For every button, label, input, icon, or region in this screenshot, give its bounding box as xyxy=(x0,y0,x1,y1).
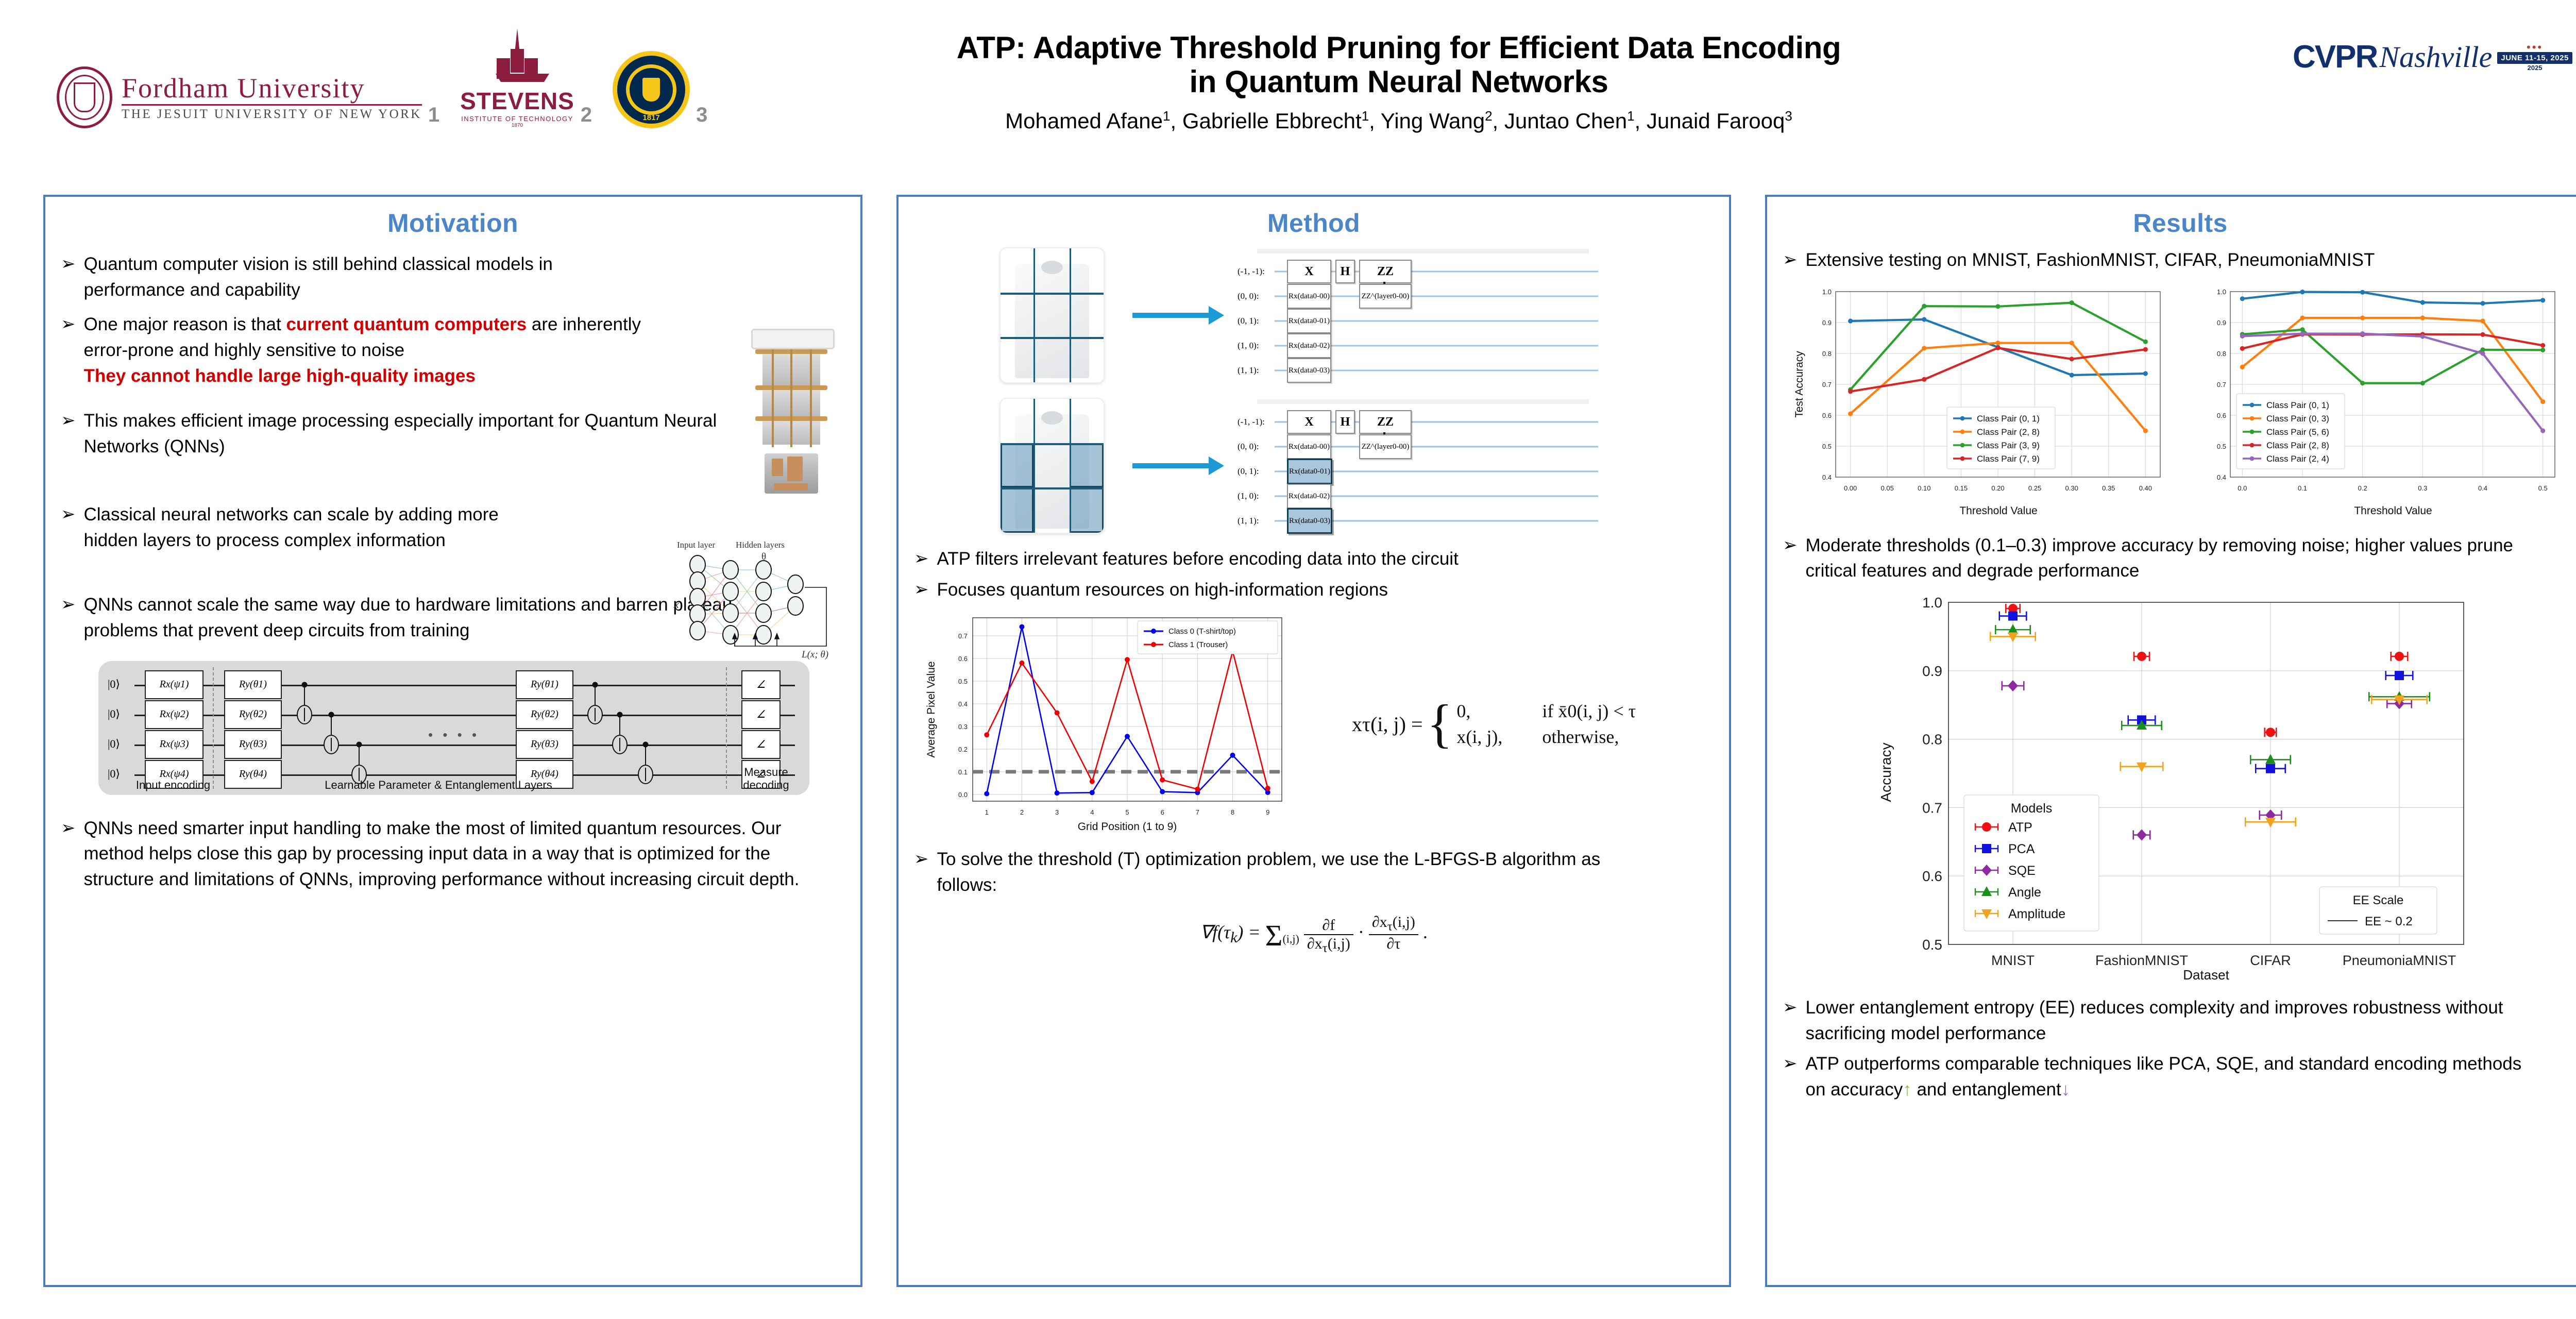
circuit1-gate-zz: ZZ xyxy=(1359,260,1412,283)
threshold-charts-row: 0.40.50.60.70.80.91.00.000.050.100.150.2… xyxy=(1767,281,2576,523)
qnn-gate-ry2-1: Ry(θ1) xyxy=(516,670,573,699)
qnn-gate-rx-2: Rx(ψ2) xyxy=(145,700,204,729)
svg-text:EE ~ 0.2: EE ~ 0.2 xyxy=(2365,915,2413,928)
logo-fordham: Fordham University THE JESUIT UNIVERSITY… xyxy=(57,66,439,128)
poster-title-line-2: in Quantum Neural Networks xyxy=(762,65,2035,99)
method-bullet-2-text: Focuses quantum resources on high-inform… xyxy=(937,577,1716,603)
circuit1-gate-rx-02: Rx(data0-02) xyxy=(1287,333,1331,358)
pp-ylabel: Average Pixel Value xyxy=(925,662,937,758)
svg-text:0.2: 0.2 xyxy=(2358,484,2367,492)
svg-text:1.0: 1.0 xyxy=(1922,595,1942,611)
circuit2-gate-zz: ZZ xyxy=(1359,410,1412,434)
circuit1-gate-rx-00: Rx(data0-00) xyxy=(1287,284,1331,309)
bullet-2-highlight-1: current quantum computers xyxy=(286,314,527,334)
logo-strip: Fordham University THE JESUIT UNIVERSITY… xyxy=(57,28,707,128)
svg-text:0.20: 0.20 xyxy=(1991,484,2004,492)
circuit1-label-4: (1, 1): xyxy=(1238,365,1259,376)
qnn-measure-icon-1: ∠ xyxy=(741,670,781,699)
bullet-arrow-icon: ➢ xyxy=(1783,533,1798,584)
results-bullet-ee-text: Lower entanglement entropy (EE) reduces … xyxy=(1806,995,2540,1046)
neural-network-diagram: Input layer Hidden layers θ x L(x; θ) xyxy=(674,540,849,669)
svg-text:0.7: 0.7 xyxy=(2217,381,2226,388)
cvpr-dots-icon: ••• xyxy=(2527,43,2543,52)
bullet-arrow-icon: ➢ xyxy=(1783,247,1798,273)
method-bullet-lbfgs: ➢ To solve the threshold (T) optimizatio… xyxy=(914,847,1635,898)
motivation-bullet-2-text: One major reason is that current quantum… xyxy=(84,312,664,388)
qnn-ket-0: |0⟩ xyxy=(108,678,120,691)
circuit2-gate-rx-01-selected: Rx(data0-01) xyxy=(1287,459,1332,484)
circuit2-gate-rx-03-selected: Rx(data0-03) xyxy=(1287,508,1332,534)
svg-text:0.6: 0.6 xyxy=(1822,412,1832,419)
stevens-castle-icon xyxy=(494,28,541,89)
quantum-computer-photo xyxy=(740,329,843,494)
circuit2-label-2: (0, 1): xyxy=(1238,466,1259,477)
svg-text:0.8: 0.8 xyxy=(2217,350,2226,358)
svg-text:FashionMNIST: FashionMNIST xyxy=(2095,953,2188,968)
circuit2-gate-zz-layer: ZZ^(layer0-00) xyxy=(1359,434,1412,459)
tr-xlabel: Threshold Value xyxy=(2354,505,2432,517)
svg-text:0.10: 0.10 xyxy=(1918,484,1930,492)
circuit2-label-0: (-1, -1): xyxy=(1238,417,1265,427)
poster-header: Fordham University THE JESUIT UNIVERSITY… xyxy=(0,0,2576,191)
method-bullet-1: ➢ ATP filters irrelevant features before… xyxy=(914,546,1716,572)
svg-text:1.0: 1.0 xyxy=(2217,288,2226,296)
bullet-arrow-icon: ➢ xyxy=(61,502,76,553)
svg-text:3: 3 xyxy=(1055,808,1059,816)
motivation-bullet-6: ➢ QNNs need smarter input handling to ma… xyxy=(61,816,823,892)
svg-text:9: 9 xyxy=(1266,808,1269,816)
section-results: Results ➢ Extensive testing on MNIST, Fa… xyxy=(1765,195,2576,1287)
svg-text:0.30: 0.30 xyxy=(2065,484,2078,492)
svg-text:1.0: 1.0 xyxy=(1822,288,1832,296)
circuit1-label-3: (1, 0): xyxy=(1238,341,1259,351)
motivation-bullet-6-text: QNNs need smarter input handling to make… xyxy=(84,816,824,892)
bullet-arrow-icon: ➢ xyxy=(914,546,929,572)
fordham-divider xyxy=(122,104,422,106)
affiliation-number-1: 1 xyxy=(428,105,439,128)
results-bullet-1-text: Extensive testing on MNIST, FashionMNIST… xyxy=(1806,247,2576,273)
svg-text:0.6: 0.6 xyxy=(1922,868,1942,884)
svg-text:Class 1 (Trouser): Class 1 (Trouser) xyxy=(1168,640,1228,649)
stevens-tagline: INSTITUTE OF TECHNOLOGY xyxy=(461,115,573,123)
compare-mid: and entanglement xyxy=(1912,1079,2061,1100)
svg-text:Class Pair (5, 6): Class Pair (5, 6) xyxy=(2266,427,2329,437)
svg-text:Angle: Angle xyxy=(2008,885,2041,900)
cvpr-city: Nashville xyxy=(2379,42,2492,72)
bullet-2-highlight-2: They cannot handle large high-quality im… xyxy=(84,366,476,386)
circuit1-label-2: (0, 1): xyxy=(1238,316,1259,326)
fordham-name: Fordham University xyxy=(122,74,422,102)
circuit2-label-4: (1, 1): xyxy=(1238,516,1259,526)
motivation-bullet-4: ➢ Classical neural networks can scale by… xyxy=(61,502,524,553)
method-bullet-2: ➢ Focuses quantum resources on high-info… xyxy=(914,577,1716,603)
qnn-gate-rx-3: Rx(ψ3) xyxy=(145,730,204,759)
circuit2-gate-rx-02: Rx(data0-02) xyxy=(1287,484,1331,509)
chart-threshold-right: 0.40.50.60.70.80.91.00.00.10.20.30.40.5 … xyxy=(2187,281,2568,523)
svg-text:CIFAR: CIFAR xyxy=(2250,953,2291,968)
fashion-mnist-image-1 xyxy=(999,247,1105,383)
svg-text:Class Pair (0, 1): Class Pair (0, 1) xyxy=(2266,400,2329,410)
method-encoding-row-2: (-1, -1): (0, 0): (0, 1): (1, 0): (1, 1)… xyxy=(999,398,1729,534)
cvpr-wordmark: CVPR xyxy=(2293,41,2377,73)
chart-model-accuracy: 0.50.60.70.80.91.0MNISTFashionMNISTCIFAR… xyxy=(1871,589,2489,986)
svg-text:0.6: 0.6 xyxy=(958,655,968,663)
cvpr-logo: CVPR Nashville ••• JUNE 11-15, 2025 2025 xyxy=(2293,41,2572,73)
entanglement-down-arrow-icon: ↓ xyxy=(2061,1079,2071,1100)
svg-text:0.5: 0.5 xyxy=(2217,443,2226,450)
fordham-seal-icon xyxy=(57,66,112,128)
svg-text:PCA: PCA xyxy=(2008,842,2035,856)
qnn-ket-2: |0⟩ xyxy=(108,737,120,751)
method-title: Method xyxy=(899,208,1729,238)
svg-text:0.8: 0.8 xyxy=(1822,350,1832,358)
threshold-case1-value: 0, xyxy=(1456,700,1516,722)
circuit1-gate-zz-layer: ZZ^(layer0-00) xyxy=(1359,284,1412,309)
stevens-year: 1870 xyxy=(512,123,523,128)
affiliation-number-2: 2 xyxy=(581,105,592,128)
qnn-caption-encoding: Input encoding xyxy=(134,779,212,792)
bullet-arrow-icon: ➢ xyxy=(61,312,76,388)
affiliation-number-3: 3 xyxy=(696,105,707,128)
svg-text:0.05: 0.05 xyxy=(1881,484,1894,492)
svg-text:Class Pair (7, 9): Class Pair (7, 9) xyxy=(1977,454,2040,464)
stevens-name: STEVENS xyxy=(460,89,574,113)
threshold-case2-value: x(i, j), xyxy=(1456,726,1516,748)
section-motivation: Motivation ➢ xyxy=(43,195,862,1287)
results-bullet-mid-text: Moderate thresholds (0.1–0.3) improve ac… xyxy=(1806,533,2540,584)
svg-text:0.00: 0.00 xyxy=(1844,484,1857,492)
circuit2-gate-x: X xyxy=(1287,410,1331,434)
svg-text:0.15: 0.15 xyxy=(1955,484,1968,492)
qnn-gate-ry1-3: Ry(θ3) xyxy=(224,730,282,759)
svg-text:0.0: 0.0 xyxy=(2238,484,2247,492)
circuit1-gate-x: X xyxy=(1287,260,1331,283)
svg-text:Class Pair (0, 1): Class Pair (0, 1) xyxy=(1977,414,2040,424)
method-encoding-row-1: (-1, -1): (0, 0): (0, 1): (1, 0): (1, 1)… xyxy=(999,247,1729,383)
svg-text:0.3: 0.3 xyxy=(958,723,968,731)
results-bullet-1: ➢ Extensive testing on MNIST, FashionMNI… xyxy=(1783,247,2576,273)
cvpr-dates: JUNE 11-15, 2025 xyxy=(2497,52,2572,64)
chart-pixel-profile: 0.00.10.20.30.40.50.60.7 123456789 Class… xyxy=(921,611,1333,837)
svg-text:6: 6 xyxy=(1161,808,1164,816)
bullet-arrow-icon: ➢ xyxy=(61,816,76,892)
encoding-arrow-icon-1 xyxy=(1132,313,1210,318)
qnn-ellipsis: • • • • xyxy=(428,727,480,743)
svg-text:Models: Models xyxy=(2011,801,2053,816)
motivation-bullet-1-text: Quantum computer vision is still behind … xyxy=(84,251,607,302)
svg-text:SQE: SQE xyxy=(2008,864,2036,878)
motivation-title: Motivation xyxy=(45,208,860,238)
bullet-arrow-icon: ➢ xyxy=(914,577,929,603)
svg-text:0.9: 0.9 xyxy=(2217,319,2226,327)
circuit1-gate-rx-03: Rx(data0-03) xyxy=(1287,358,1331,383)
bullet-2-pre: One major reason is that xyxy=(84,314,286,334)
svg-text:0.7: 0.7 xyxy=(958,633,968,640)
bullet-arrow-icon: ➢ xyxy=(1783,995,1798,1046)
svg-text:PneumoniaMNIST: PneumoniaMNIST xyxy=(2343,953,2456,968)
circuit2-gate-rx-00: Rx(data0-00) xyxy=(1287,434,1331,459)
qnn-circuit-diagram: |0⟩ |0⟩ |0⟩ |0⟩ Rx(ψ1) Rx(ψ2) Rx(ψ3) Rx(… xyxy=(98,661,809,795)
ms-ylabel: Accuracy xyxy=(1878,742,1894,802)
svg-text:8: 8 xyxy=(1231,808,1234,816)
michigan-seal-icon: 1817 xyxy=(613,51,690,128)
svg-text:0.7: 0.7 xyxy=(1822,381,1832,388)
gradient-formula: ∇f(τk) = Σ(i,j) ∂f∂xτ(i,j) · ∂xτ(i,j)∂τ … xyxy=(899,914,1729,956)
svg-text:5: 5 xyxy=(1125,808,1129,816)
qnn-ket-3: |0⟩ xyxy=(108,767,120,781)
logo-michigan: 1817 3 xyxy=(613,51,707,128)
threshold-case1-cond: if x̄0(i, j) < τ xyxy=(1542,700,1636,722)
qnn-gate-ry1-4: Ry(θ4) xyxy=(224,760,282,789)
svg-text:0.9: 0.9 xyxy=(1922,663,1942,679)
svg-text:2: 2 xyxy=(1020,808,1024,816)
motivation-bullet-3-text: This makes efficient image processing es… xyxy=(84,408,772,459)
svg-text:Class Pair (2, 4): Class Pair (2, 4) xyxy=(2266,454,2329,464)
qnn-gate-ry1-1: Ry(θ1) xyxy=(224,670,282,699)
svg-text:0.1: 0.1 xyxy=(958,768,968,776)
threshold-formula: xτ(i, j) = { 0,if x̄0(i, j) < τ x(i, j),… xyxy=(1352,700,1636,748)
logo-stevens: STEVENS INSTITUTE OF TECHNOLOGY 1870 2 xyxy=(460,28,592,128)
qnn-caption-learnable: Learnable Parameter & Entanglement Layer… xyxy=(320,779,557,792)
svg-text:EE Scale: EE Scale xyxy=(2353,893,2404,907)
quantum-circuit-2: (-1, -1): (0, 0): (0, 1): (1, 0): (1, 1)… xyxy=(1238,399,1598,532)
tl-ylabel: Test Accuracy xyxy=(1793,350,1805,417)
qnn-caption-measure: Measure decoding xyxy=(725,766,807,791)
results-bullet-compare: ➢ ATP outperforms comparable techniques … xyxy=(1783,1051,2540,1102)
svg-text:0.4: 0.4 xyxy=(2217,474,2226,481)
svg-text:4: 4 xyxy=(1090,808,1094,816)
qnn-gate-ry2-2: Ry(θ2) xyxy=(516,700,573,729)
ms-xlabel: Dataset xyxy=(2183,967,2229,983)
poster-root: Fordham University THE JESUIT UNIVERSITY… xyxy=(0,0,2576,1319)
bullet-arrow-icon: ➢ xyxy=(61,592,76,643)
chart-threshold-left: 0.40.50.60.70.80.91.00.000.050.100.150.2… xyxy=(1792,281,2174,523)
svg-text:0.3: 0.3 xyxy=(2418,484,2427,492)
svg-text:1: 1 xyxy=(985,808,989,816)
svg-text:0.5: 0.5 xyxy=(1822,443,1832,450)
motivation-bullet-1: ➢ Quantum computer vision is still behin… xyxy=(61,251,607,302)
accuracy-up-arrow-icon: ↑ xyxy=(1903,1079,1912,1100)
circuit1-label-1: (0, 0): xyxy=(1238,291,1259,301)
section-method: Method (-1, -1): (0, 0): (0, 1): (1, 0):… xyxy=(896,195,1731,1287)
threshold-case2-cond: otherwise, xyxy=(1542,726,1619,748)
fashion-mnist-image-2 xyxy=(999,398,1105,534)
svg-text:0.5: 0.5 xyxy=(2538,484,2548,492)
circuit2-label-3: (1, 0): xyxy=(1238,491,1259,501)
svg-text:0.5: 0.5 xyxy=(1922,937,1942,953)
poster-title-line-1: ATP: Adaptive Threshold Pruning for Effi… xyxy=(762,31,2035,65)
svg-text:0.25: 0.25 xyxy=(2028,484,2041,492)
svg-text:7: 7 xyxy=(1196,808,1199,816)
fordham-tagline: THE JESUIT UNIVERSITY OF NEW YORK xyxy=(122,108,422,121)
svg-text:0.9: 0.9 xyxy=(1822,319,1832,327)
svg-text:0.6: 0.6 xyxy=(2217,412,2226,419)
svg-text:0.4: 0.4 xyxy=(958,700,968,708)
threshold-formula-lhs: xτ(i, j) = xyxy=(1352,712,1423,736)
results-bullet-ee: ➢ Lower entanglement entropy (EE) reduce… xyxy=(1783,995,2540,1046)
svg-text:0.1: 0.1 xyxy=(2298,484,2307,492)
svg-text:Class Pair (2, 8): Class Pair (2, 8) xyxy=(1977,427,2040,437)
formula-brace-icon: { xyxy=(1427,705,1453,743)
results-title: Results xyxy=(1767,208,2576,238)
results-bullet-compare-text: ATP outperforms comparable techniques li… xyxy=(1806,1051,2540,1102)
qnn-measure-icon-2: ∠ xyxy=(741,700,781,729)
title-block: ATP: Adaptive Threshold Pruning for Effi… xyxy=(762,31,2035,134)
qnn-ket-1: |0⟩ xyxy=(108,707,120,721)
svg-text:0.4: 0.4 xyxy=(1822,474,1832,481)
motivation-bullet-2: ➢ One major reason is that current quant… xyxy=(61,312,664,388)
svg-text:Class 0 (T-shirt/top): Class 0 (T-shirt/top) xyxy=(1168,627,1236,636)
tl-xlabel: Threshold Value xyxy=(1959,505,2037,517)
qnn-gate-ry2-3: Ry(θ3) xyxy=(516,730,573,759)
encoding-arrow-icon-2 xyxy=(1132,463,1210,468)
quantum-circuit-1: (-1, -1): (0, 0): (0, 1): (1, 0): (1, 1)… xyxy=(1238,249,1598,382)
svg-text:Amplitude: Amplitude xyxy=(2008,907,2065,921)
cvpr-year: 2025 xyxy=(2528,64,2543,72)
svg-text:0.7: 0.7 xyxy=(1922,800,1942,816)
method-bullet-1-text: ATP filters irrelevant features before e… xyxy=(937,546,1716,572)
svg-text:Class Pair (3, 9): Class Pair (3, 9) xyxy=(1977,441,2040,450)
bullet-arrow-icon: ➢ xyxy=(914,847,929,898)
bullet-arrow-icon: ➢ xyxy=(61,251,76,302)
circuit1-gate-rx-01: Rx(data0-01) xyxy=(1287,309,1331,333)
qnn-measure-icon-3: ∠ xyxy=(741,730,781,759)
qnn-gate-rx-1: Rx(ψ1) xyxy=(145,670,204,699)
svg-text:0.0: 0.0 xyxy=(958,791,968,799)
motivation-bullet-4-text: Classical neural networks can scale by a… xyxy=(84,502,525,553)
svg-text:Class Pair (2, 8): Class Pair (2, 8) xyxy=(2266,441,2329,450)
circuit2-gate-h: H xyxy=(1335,410,1355,434)
circuit1-gate-h: H xyxy=(1335,260,1355,283)
svg-text:ATP: ATP xyxy=(2008,820,2032,835)
nn-graph-svg xyxy=(674,540,849,669)
svg-text:0.4: 0.4 xyxy=(2478,484,2487,492)
bullet-arrow-icon: ➢ xyxy=(1783,1051,1798,1102)
circuit1-label-0: (-1, -1): xyxy=(1238,266,1265,277)
circuit2-label-1: (0, 0): xyxy=(1238,442,1259,452)
qnn-gate-ry1-2: Ry(θ2) xyxy=(224,700,282,729)
svg-text:Class Pair (0, 3): Class Pair (0, 3) xyxy=(2266,414,2329,424)
method-bullet-lbfgs-text: To solve the threshold (T) optimization … xyxy=(937,847,1636,898)
bullet-arrow-icon: ➢ xyxy=(61,408,76,459)
pp-xlabel: Grid Position (1 to 9) xyxy=(1078,821,1177,833)
author-list: Mohamed Afane1, Gabrielle Ebbrecht1, Yin… xyxy=(762,108,2035,134)
michigan-year: 1817 xyxy=(613,113,690,122)
svg-text:0.2: 0.2 xyxy=(958,746,968,753)
svg-text:0.8: 0.8 xyxy=(1922,732,1942,748)
svg-text:MNIST: MNIST xyxy=(1991,953,2035,968)
results-bullet-mid: ➢ Moderate thresholds (0.1–0.3) improve … xyxy=(1783,533,2540,584)
svg-text:0.5: 0.5 xyxy=(958,678,968,685)
motivation-bullet-3: ➢ This makes efficient image processing … xyxy=(61,408,772,459)
svg-text:0.40: 0.40 xyxy=(2139,484,2152,492)
svg-text:0.35: 0.35 xyxy=(2102,484,2115,492)
